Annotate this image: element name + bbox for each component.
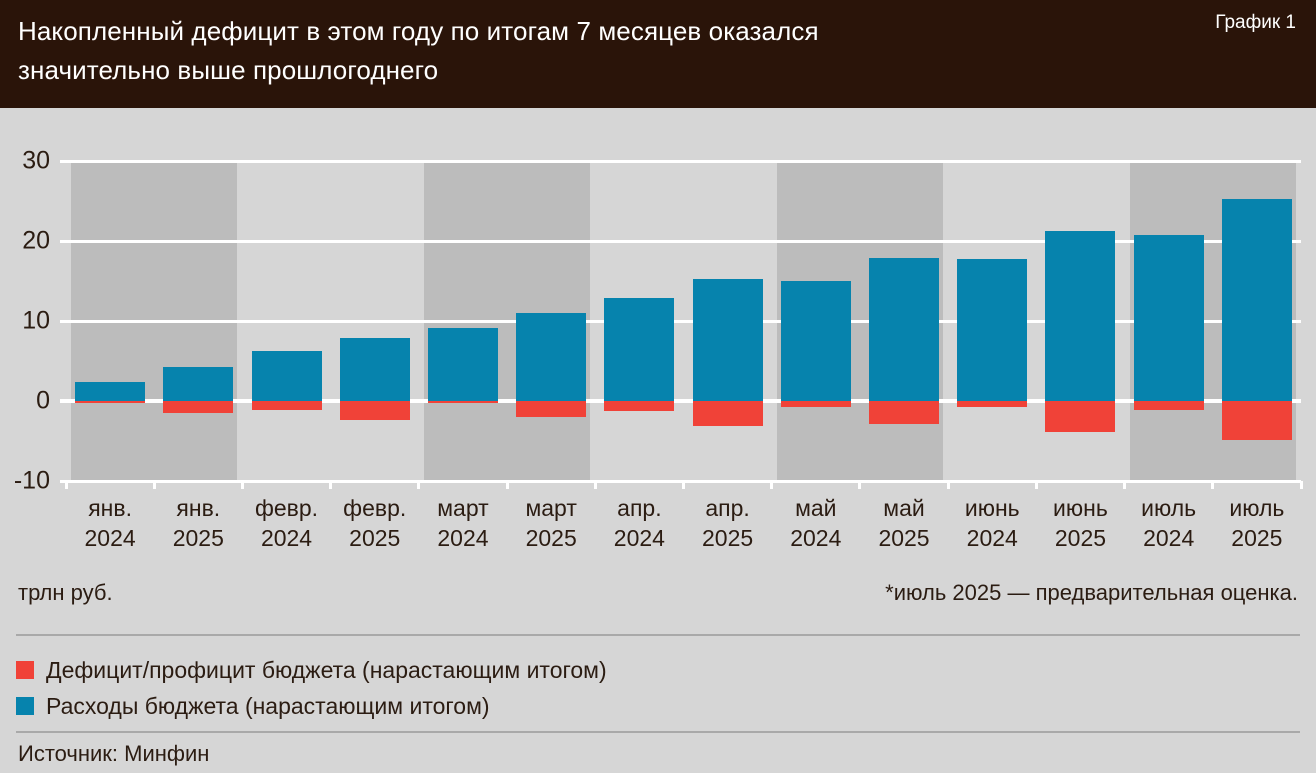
bar-expenditure [604, 298, 674, 401]
bar-deficit [340, 401, 410, 420]
bar-expenditure [1222, 199, 1292, 401]
bar-expenditure [957, 259, 1027, 401]
x-axis-tick [65, 481, 68, 489]
legend-item[interactable]: Расходы бюджета (нарастающим итогом) [16, 688, 1016, 724]
x-axis-tick [417, 481, 420, 489]
x-axis-tick [1123, 481, 1126, 489]
bar-deficit [252, 401, 322, 410]
x-axis-label: май 2024 [772, 493, 860, 553]
legend-swatch-icon [16, 697, 34, 715]
bar-expenditure [75, 382, 145, 401]
x-axis-tick [1300, 481, 1303, 489]
x-axis-tick [858, 481, 861, 489]
x-axis-label: июнь 2024 [948, 493, 1036, 553]
bar-deficit [604, 401, 674, 411]
gridline [60, 480, 1301, 483]
x-axis: янв. 2024янв. 2025февр. 2024февр. 2025ма… [66, 493, 1301, 573]
bar-expenditure [693, 279, 763, 401]
x-axis-tick [329, 481, 332, 489]
bar-expenditure [340, 338, 410, 401]
bar-expenditure [163, 367, 233, 401]
legend-item[interactable]: Дефицит/профицит бюджета (нарастающим ит… [16, 652, 1016, 688]
y-axis-tick-label: 20 [22, 227, 50, 256]
x-axis-tick [153, 481, 156, 489]
unit-label: трлн руб. [18, 580, 113, 606]
chart-number-label: График 1 [1215, 12, 1296, 34]
chart-container: 3020100-10 янв. 2024янв. 2025февр. 2024ф… [0, 108, 1316, 628]
legend-divider [16, 634, 1300, 636]
bar-expenditure [781, 281, 851, 401]
x-axis-label: янв. 2024 [66, 493, 154, 553]
x-axis-label: февр. 2025 [331, 493, 419, 553]
footnote-label: *июль 2025 — предварительная оценка. [885, 580, 1298, 606]
x-axis-label: июнь 2025 [1036, 493, 1124, 553]
bar-expenditure [252, 351, 322, 401]
header-banner: Накопленный дефицит в этом году по итога… [0, 0, 1316, 108]
y-axis-tick-label: 30 [22, 147, 50, 176]
bar-deficit [163, 401, 233, 413]
source-divider [16, 731, 1300, 733]
x-axis-label: янв. 2025 [154, 493, 242, 553]
chart-page: Накопленный дефицит в этом году по итога… [0, 0, 1316, 773]
bar-deficit [75, 401, 145, 403]
x-axis-tick [1035, 481, 1038, 489]
bar-deficit [428, 401, 498, 403]
x-axis-label: март 2025 [507, 493, 595, 553]
bar-deficit [693, 401, 763, 426]
x-axis-tick [241, 481, 244, 489]
legend-item-label: Дефицит/профицит бюджета (нарастающим ит… [46, 657, 607, 684]
y-axis-tick-label: -10 [14, 467, 50, 496]
legend-swatch-icon [16, 661, 34, 679]
legend: Дефицит/профицит бюджета (нарастающим ит… [16, 652, 1016, 724]
bar-expenditure [1045, 231, 1115, 401]
y-axis: 3020100-10 [0, 108, 62, 628]
x-axis-label: июль 2025 [1213, 493, 1301, 553]
bar-expenditure [516, 313, 586, 401]
x-axis-tick [1211, 481, 1214, 489]
page-title: Накопленный дефицит в этом году по итога… [18, 12, 1138, 90]
bar-deficit [869, 401, 939, 424]
x-axis-tick [682, 481, 685, 489]
x-axis-label: апр. 2025 [684, 493, 772, 553]
bar-deficit [1045, 401, 1115, 432]
x-axis-tick [506, 481, 509, 489]
x-axis-label: февр. 2024 [242, 493, 330, 553]
source-label: Источник: Минфин [18, 741, 209, 767]
x-axis-tick [770, 481, 773, 489]
x-axis-tick [947, 481, 950, 489]
x-axis-label: июль 2024 [1125, 493, 1213, 553]
x-axis-label: май 2025 [860, 493, 948, 553]
legend-item-label: Расходы бюджета (нарастающим итогом) [46, 693, 490, 720]
bar-deficit [516, 401, 586, 417]
bar-deficit [957, 401, 1027, 407]
bar-deficit [1134, 401, 1204, 410]
bar-expenditure [1134, 235, 1204, 401]
bar-deficit [781, 401, 851, 407]
bar-expenditure [428, 328, 498, 401]
plot-area [66, 161, 1301, 481]
bar-expenditure [869, 258, 939, 401]
x-axis-tick [594, 481, 597, 489]
x-axis-label: апр. 2024 [595, 493, 683, 553]
bar-deficit [1222, 401, 1292, 440]
gridline [60, 160, 1301, 163]
x-axis-label: март 2024 [419, 493, 507, 553]
y-axis-tick-label: 0 [36, 387, 50, 416]
y-axis-tick-label: 10 [22, 307, 50, 336]
